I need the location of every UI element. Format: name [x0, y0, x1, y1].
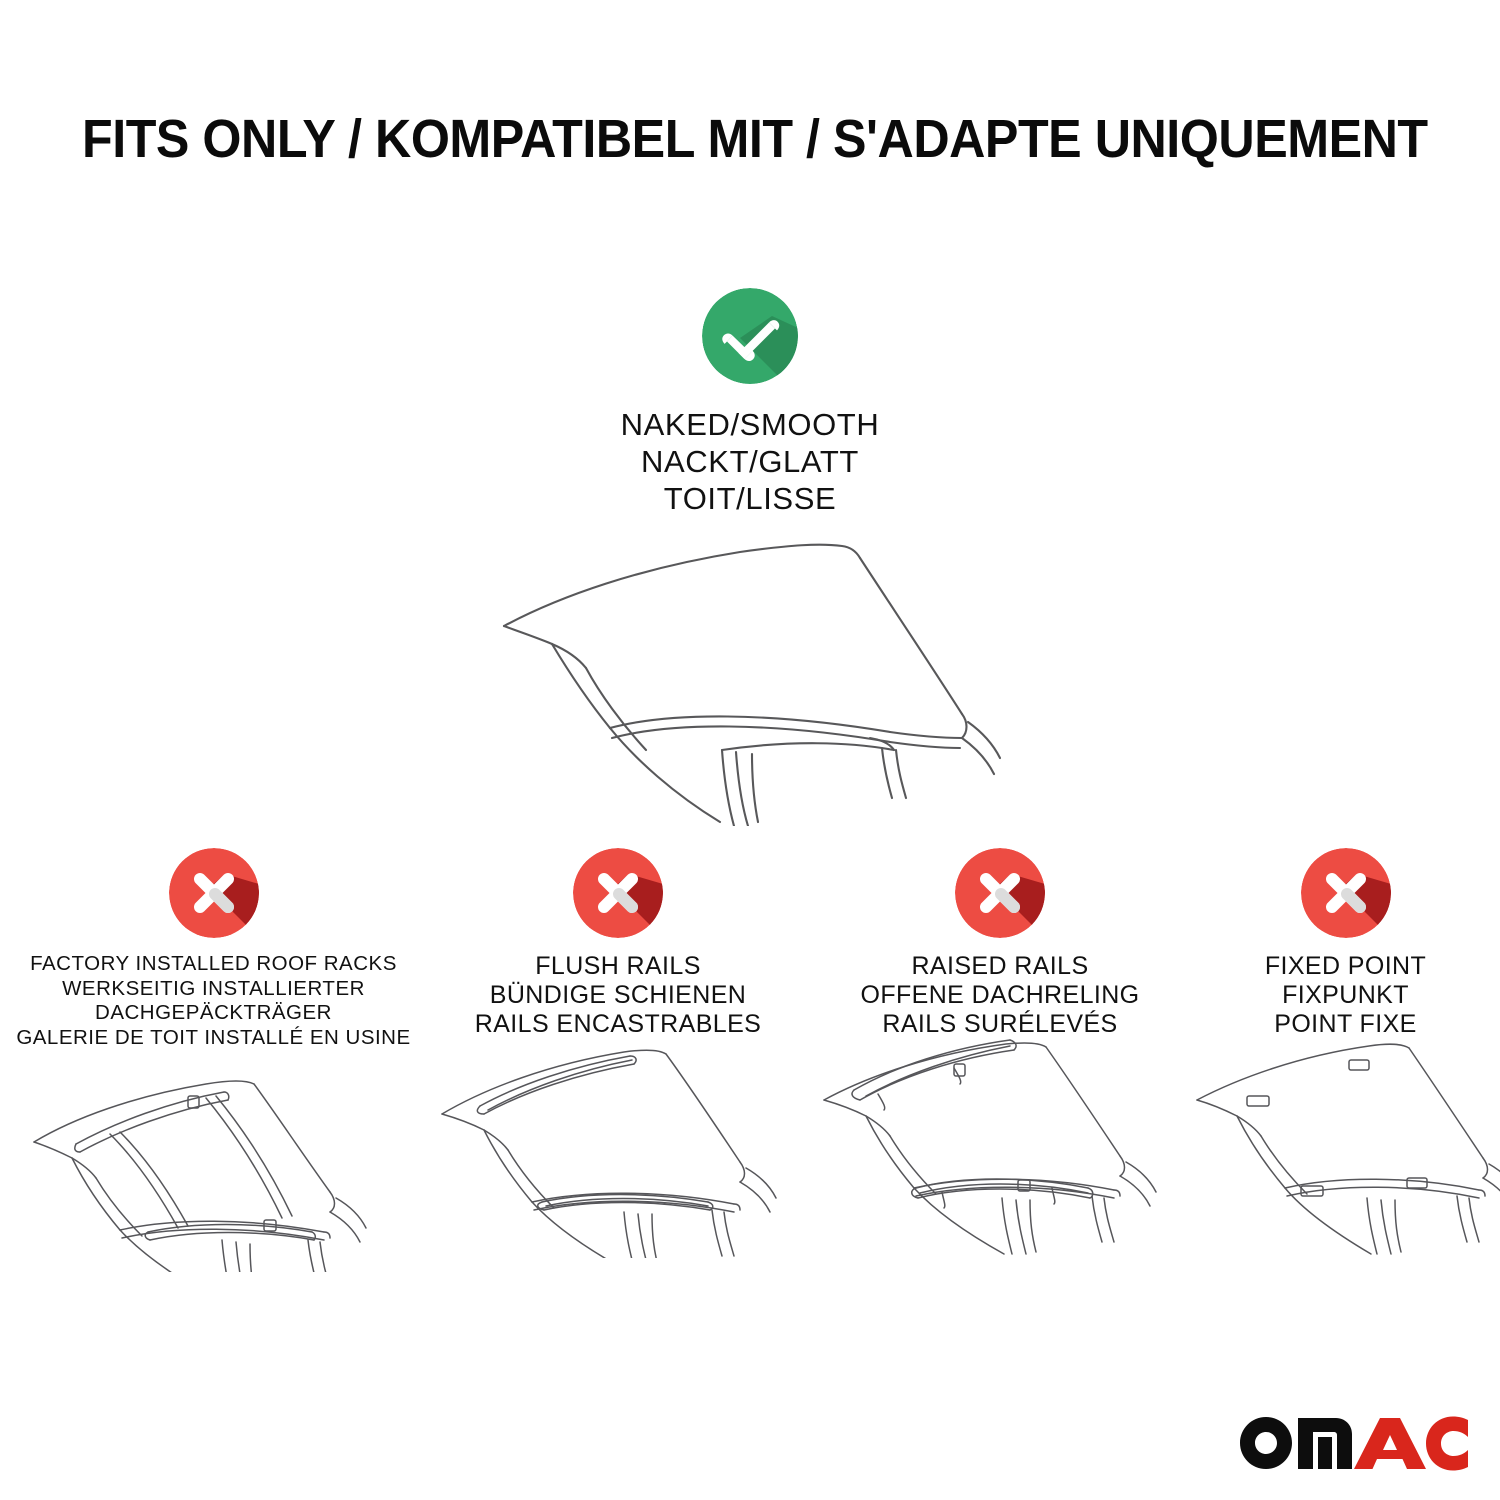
incompatible-row: FACTORY INSTALLED ROOF RACKS WERKSEITIG …: [0, 848, 1500, 1050]
roof-type-label-line1: FLUSH RAILS: [427, 952, 809, 981]
roof-type-flush-rails: FLUSH RAILS BÜNDIGE SCHIENEN RAILS ENCAS…: [427, 848, 809, 1050]
x-circle-icon: [1301, 848, 1391, 938]
roof-type-fixed-point: FIXED POINT FIXPUNKT POINT FIXE: [1191, 848, 1500, 1050]
roof-type-label-group: FLUSH RAILS BÜNDIGE SCHIENEN RAILS ENCAS…: [427, 952, 809, 1039]
factory-roof-rack-illustration: [0, 1052, 427, 1277]
roof-type-label-line4: GALERIE DE TOIT INSTALLÉ EN USINE: [0, 1026, 427, 1051]
roof-type-label-line3: RAILS SURÉLEVÉS: [809, 1010, 1191, 1039]
x-circle-icon: [955, 848, 1045, 938]
logo-letter-a: [1354, 1418, 1426, 1469]
roof-type-label-line1: FACTORY INSTALLED ROOF RACKS: [0, 952, 427, 977]
roof-type-label-line3: RAILS ENCASTRABLES: [427, 1010, 809, 1039]
roof-type-label-line1: RAISED RAILS: [809, 952, 1191, 981]
roof-type-label-line3: POINT FIXE: [1191, 1010, 1500, 1039]
flush-rails-illustration: [427, 1038, 809, 1263]
x-circle-icon: [169, 848, 259, 938]
roof-type-label-line2: BÜNDIGE SCHIENEN: [427, 981, 809, 1010]
roof-type-label-line3: DACHGEPÄCKTRÄGER: [0, 1001, 427, 1026]
roof-type-label-group: FACTORY INSTALLED ROOF RACKS WERKSEITIG …: [0, 952, 427, 1050]
raised-rails-illustration: [809, 1038, 1191, 1263]
compatible-label-line2: NACKT/GLATT: [0, 443, 1500, 480]
logo-letter-c: [1426, 1417, 1468, 1471]
roof-type-label-group: FIXED POINT FIXPUNKT POINT FIXE: [1191, 952, 1500, 1039]
page-title: FITS ONLY / KOMPATIBEL MIT / S'ADAPTE UN…: [82, 108, 1328, 170]
logo-letter-m: [1298, 1418, 1352, 1469]
roof-type-label-line2: WERKSEITIG INSTALLIERTER: [0, 977, 427, 1002]
roof-type-raised-rails: RAISED RAILS OFFENE DACHRELING RAILS SUR…: [809, 848, 1191, 1050]
compatible-label-group: NAKED/SMOOTH NACKT/GLATT TOIT/LISSE: [0, 406, 1500, 517]
compatibility-infographic: FITS ONLY / KOMPATIBEL MIT / S'ADAPTE UN…: [0, 0, 1500, 1500]
compatible-label-line1: NAKED/SMOOTH: [0, 406, 1500, 443]
check-circle-icon: [702, 288, 798, 384]
roof-type-factory-installed-roof-racks: FACTORY INSTALLED ROOF RACKS WERKSEITIG …: [0, 848, 427, 1050]
compatible-section: NAKED/SMOOTH NACKT/GLATT TOIT/LISSE: [0, 288, 1500, 517]
roof-type-label-group: RAISED RAILS OFFENE DACHRELING RAILS SUR…: [809, 952, 1191, 1039]
logo-letter-o: [1240, 1417, 1292, 1469]
roof-type-label-line2: OFFENE DACHRELING: [809, 981, 1191, 1010]
roof-type-label-line1: FIXED POINT: [1191, 952, 1500, 981]
x-circle-icon: [573, 848, 663, 938]
omac-logo: [1234, 1409, 1474, 1475]
roof-type-label-line2: FIXPUNKT: [1191, 981, 1500, 1010]
naked-smooth-roof-illustration: [0, 526, 1500, 831]
fixed-point-illustration: [1191, 1038, 1500, 1263]
compatible-label-line3: TOIT/LISSE: [0, 480, 1500, 517]
